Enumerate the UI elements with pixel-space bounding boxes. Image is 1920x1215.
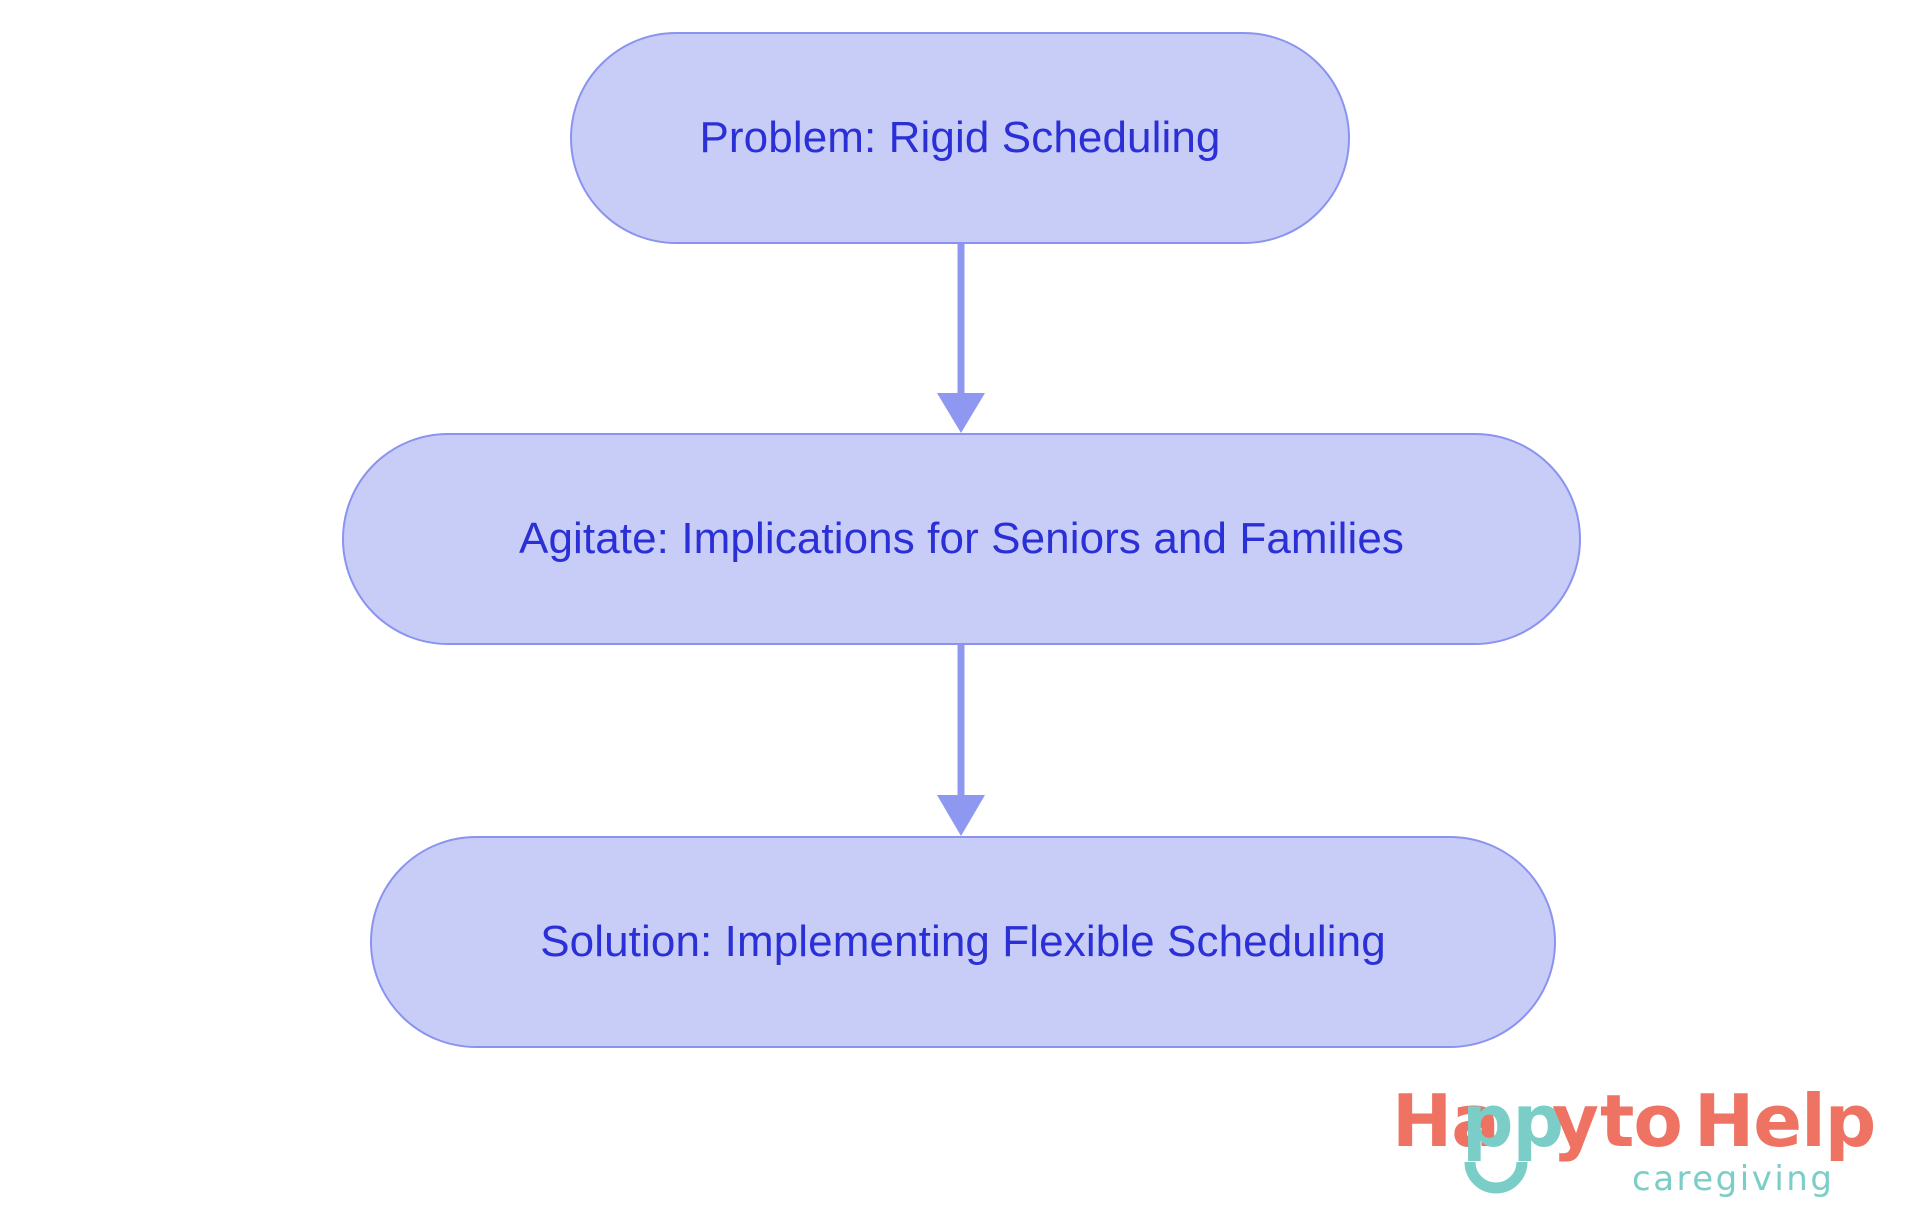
flow-node-problem-label: Problem: Rigid Scheduling	[699, 113, 1220, 164]
diagram-canvas: Problem: Rigid Scheduling Agitate: Impli…	[0, 0, 1920, 1215]
edge-agitate-to-solution	[937, 645, 985, 836]
logo-tagline: caregiving	[1632, 1159, 1834, 1199]
flow-node-solution-label: Solution: Implementing Flexible Scheduli…	[540, 917, 1386, 968]
happy-to-help-caregiving-logo: Ha pp y to Help caregiving	[1392, 1070, 1892, 1205]
smile-arc-icon	[1470, 1162, 1522, 1188]
logo-text-to: to	[1600, 1079, 1682, 1163]
flow-node-solution[interactable]: Solution: Implementing Flexible Scheduli…	[370, 836, 1556, 1048]
logo-text-help: Help	[1694, 1079, 1875, 1163]
logo-text-y: y	[1552, 1079, 1598, 1163]
flow-node-agitate[interactable]: Agitate: Implications for Seniors and Fa…	[342, 433, 1581, 645]
flow-node-agitate-label: Agitate: Implications for Seniors and Fa…	[519, 514, 1404, 565]
logo-text-pp: pp	[1462, 1079, 1563, 1163]
edge-problem-to-agitate	[937, 244, 985, 433]
flow-node-problem[interactable]: Problem: Rigid Scheduling	[570, 32, 1350, 244]
